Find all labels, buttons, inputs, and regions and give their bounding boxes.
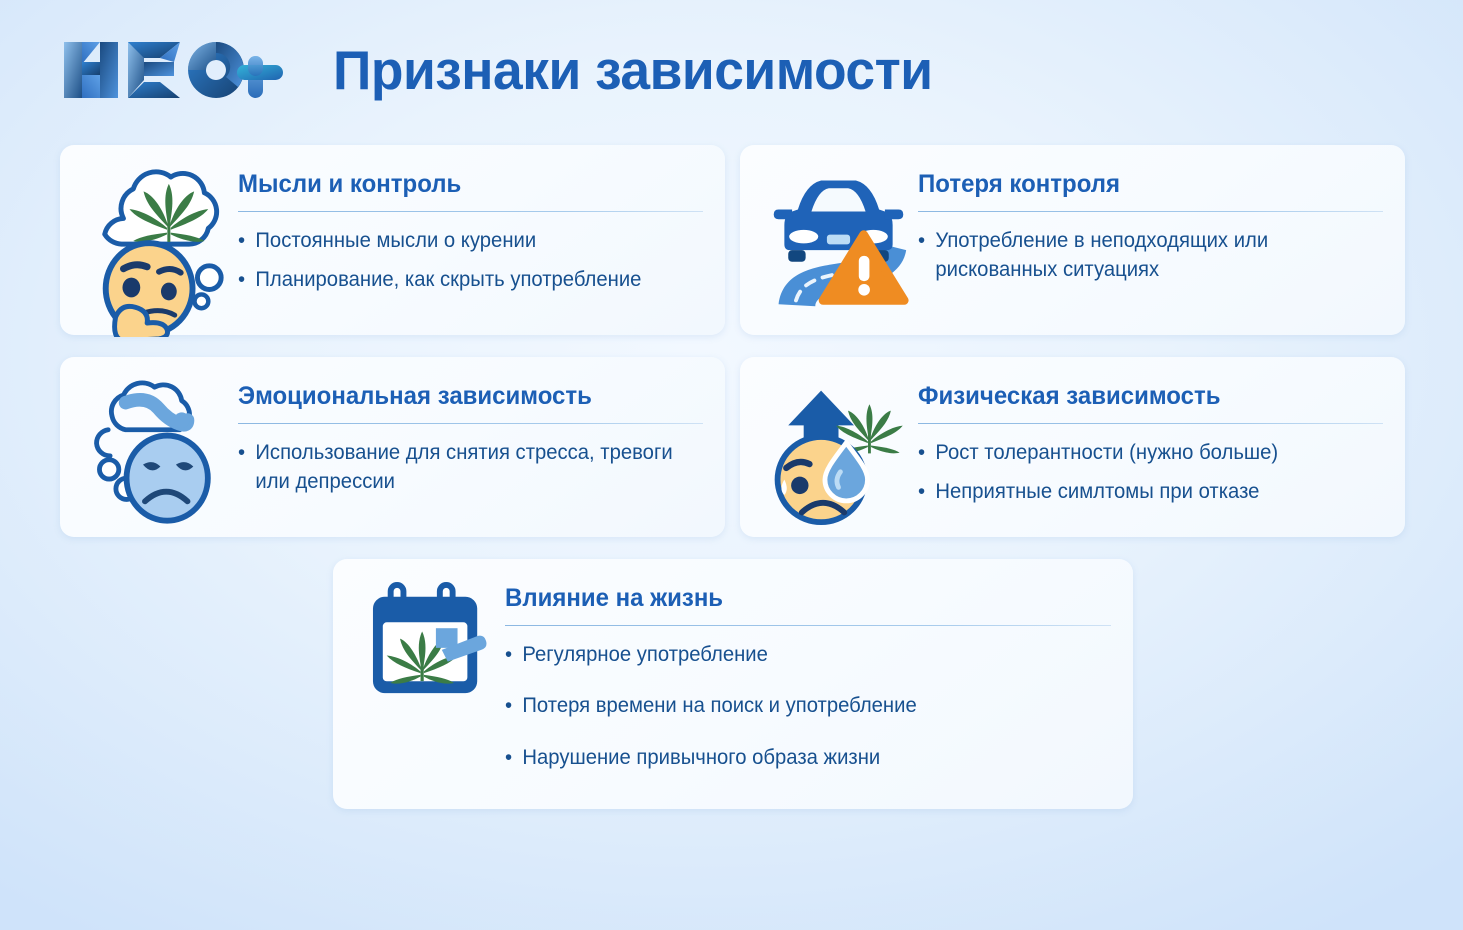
card-body: Потеря контроля • Употребление в неподхо… [918,163,1383,285]
bullet-text: Употребление в неподходящих или рискован… [935,226,1366,286]
card-emotional-dependence[interactable]: Эмоциональная зависимость • Использовани… [60,357,725,537]
list-item: • Планирование, как скрыть употребление [238,265,687,295]
card-body: Мысли и контроль • Постоянные мысли о ку… [238,163,703,295]
sad-blue-face-with-thought-cloud-icon [78,375,238,525]
card-title: Физическая зависимость [918,383,1364,411]
cards-row-3: Влияние на жизнь • Регулярное употреблен… [60,559,1405,809]
bullet-text: Нарушение привычного образа жизни [522,743,1089,773]
cards-row-1: Мысли и контроль • Постоянные мысли о ку… [60,145,1405,335]
list-item: • Постоянные мысли о курении [238,226,687,256]
card-title: Влияние на жизнь [505,585,1087,613]
list-item: • Рост толерантности (нужно больше) [918,438,1367,468]
page-title: Признаки зависимости [333,43,933,98]
bullet-marker-icon: • [918,226,935,256]
title-divider [238,211,703,212]
list-item: • Неприятные симлтомы при отказе [918,477,1367,507]
card-body: Физическая зависимость • Рост толерантно… [918,375,1383,507]
bullet-list: • Использование для снятия стресса, трев… [238,438,703,498]
bullet-marker-icon: • [238,226,255,256]
cards-row-2: Эмоциональная зависимость • Использовани… [60,357,1405,537]
bullet-text: Потеря времени на поиск и употребление [522,691,1089,721]
bullet-marker-icon: • [505,640,522,670]
bullet-marker-icon: • [918,477,935,507]
title-divider [505,625,1111,626]
bullet-marker-icon: • [505,743,522,773]
thinking-face-with-cannabis-thought-icon [78,163,238,337]
sweating-sad-face-with-up-arrow-icon [758,375,918,526]
title-divider [918,211,1383,212]
bullet-marker-icon: • [238,438,255,468]
bullet-marker-icon: • [238,265,255,295]
card-body: Эмоциональная зависимость • Использовани… [238,375,703,497]
bullet-list: • Рост толерантности (нужно больше) • Не… [918,438,1383,508]
title-divider [918,423,1383,424]
calendar-with-cannabis-leaf-icon [355,577,505,699]
list-item: • Употребление в неподходящих или рисков… [918,226,1367,286]
cards-grid: Мысли и контроль • Постоянные мысли о ку… [60,145,1405,831]
card-title: Потеря контроля [918,171,1364,199]
page-header: Признаки зависимости [0,0,1463,140]
bullet-text: Рост толерантности (нужно больше) [935,438,1366,468]
bullet-list: • Постоянные мысли о курении • Планирова… [238,226,703,296]
bullet-text: Регулярное употребление [522,640,1089,670]
card-thoughts-and-control[interactable]: Мысли и контроль • Постоянные мысли о ку… [60,145,725,335]
bullet-list: • Употребление в неподходящих или рисков… [918,226,1383,286]
bullet-list: • Регулярное употребление • Потеря време… [505,640,1111,773]
card-impact-on-life[interactable]: Влияние на жизнь • Регулярное употреблен… [333,559,1133,809]
card-body: Влияние на жизнь • Регулярное употреблен… [505,577,1111,795]
list-item: • Потеря времени на поиск и употребление [505,691,1090,721]
title-divider [238,423,703,424]
bullet-marker-icon: • [918,438,935,468]
bullet-text: Планирование, как скрыть употребление [255,265,686,295]
card-physical-dependence[interactable]: Физическая зависимость • Рост толерантно… [740,357,1405,537]
bullet-text: Использование для снятия стресса, тревог… [255,438,686,498]
bullet-text: Неприятные симлтомы при отказе [935,477,1366,507]
card-title: Мысли и контроль [238,171,684,199]
card-loss-of-control[interactable]: Потеря контроля • Употребление в неподхо… [740,145,1405,335]
neo-plus-logo [60,34,285,106]
list-item: • Регулярное употребление [505,640,1090,670]
list-item: • Использование для снятия стресса, трев… [238,438,687,498]
bullet-text: Постоянные мысли о курении [255,226,686,256]
car-on-road-with-warning-icon [758,163,918,312]
bullet-marker-icon: • [505,691,522,721]
list-item: • Нарушение привычного образа жизни [505,743,1090,773]
card-title: Эмоциональная зависимость [238,383,684,411]
